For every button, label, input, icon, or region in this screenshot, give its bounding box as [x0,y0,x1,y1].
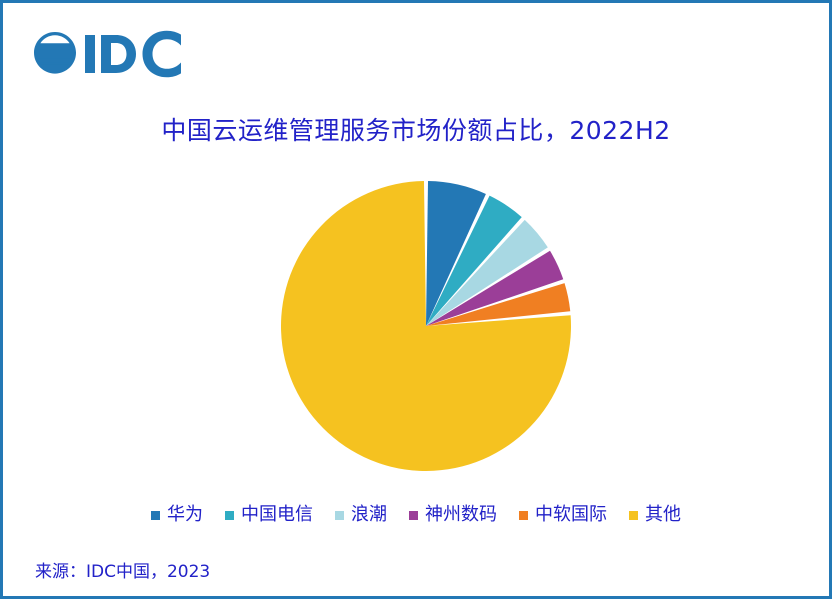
legend-item[interactable]: 神州数码 [409,506,497,524]
legend-item[interactable]: 其他 [629,506,681,524]
legend-swatch-icon [151,511,160,520]
legend-swatch-icon [629,511,638,520]
slide-page: 中国云运维管理服务市场份额占比，2022H2 华为中国电信浪潮神州数码中软国际其… [0,0,832,599]
legend-label: 中国电信 [241,506,313,524]
legend-swatch-icon [225,511,234,520]
chart-title: 中国云运维管理服务市场份额占比，2022H2 [3,111,829,147]
pie-slice-group [281,181,571,471]
legend-label: 浪潮 [351,506,387,524]
legend-item[interactable]: 浪潮 [335,506,387,524]
legend-item[interactable]: 中国电信 [225,506,313,524]
chart-legend: 华为中国电信浪潮神州数码中软国际其他 [3,506,829,524]
pie-chart-svg [278,178,574,474]
idc-logo-graphic [31,29,191,81]
idc-logo [31,29,191,81]
globe-icon [34,32,76,74]
source-note: 来源：IDC中国，2023 [35,557,210,582]
legend-swatch-icon [335,511,344,520]
pie-chart [278,178,574,474]
legend-label: 华为 [167,506,203,524]
legend-label: 其他 [645,506,681,524]
legend-label: 神州数码 [425,506,497,524]
legend-item[interactable]: 中软国际 [519,506,607,524]
legend-item[interactable]: 华为 [151,506,203,524]
legend-swatch-icon [409,511,418,520]
legend-swatch-icon [519,511,528,520]
idc-wordmark [85,31,181,78]
legend-label: 中软国际 [535,506,607,524]
